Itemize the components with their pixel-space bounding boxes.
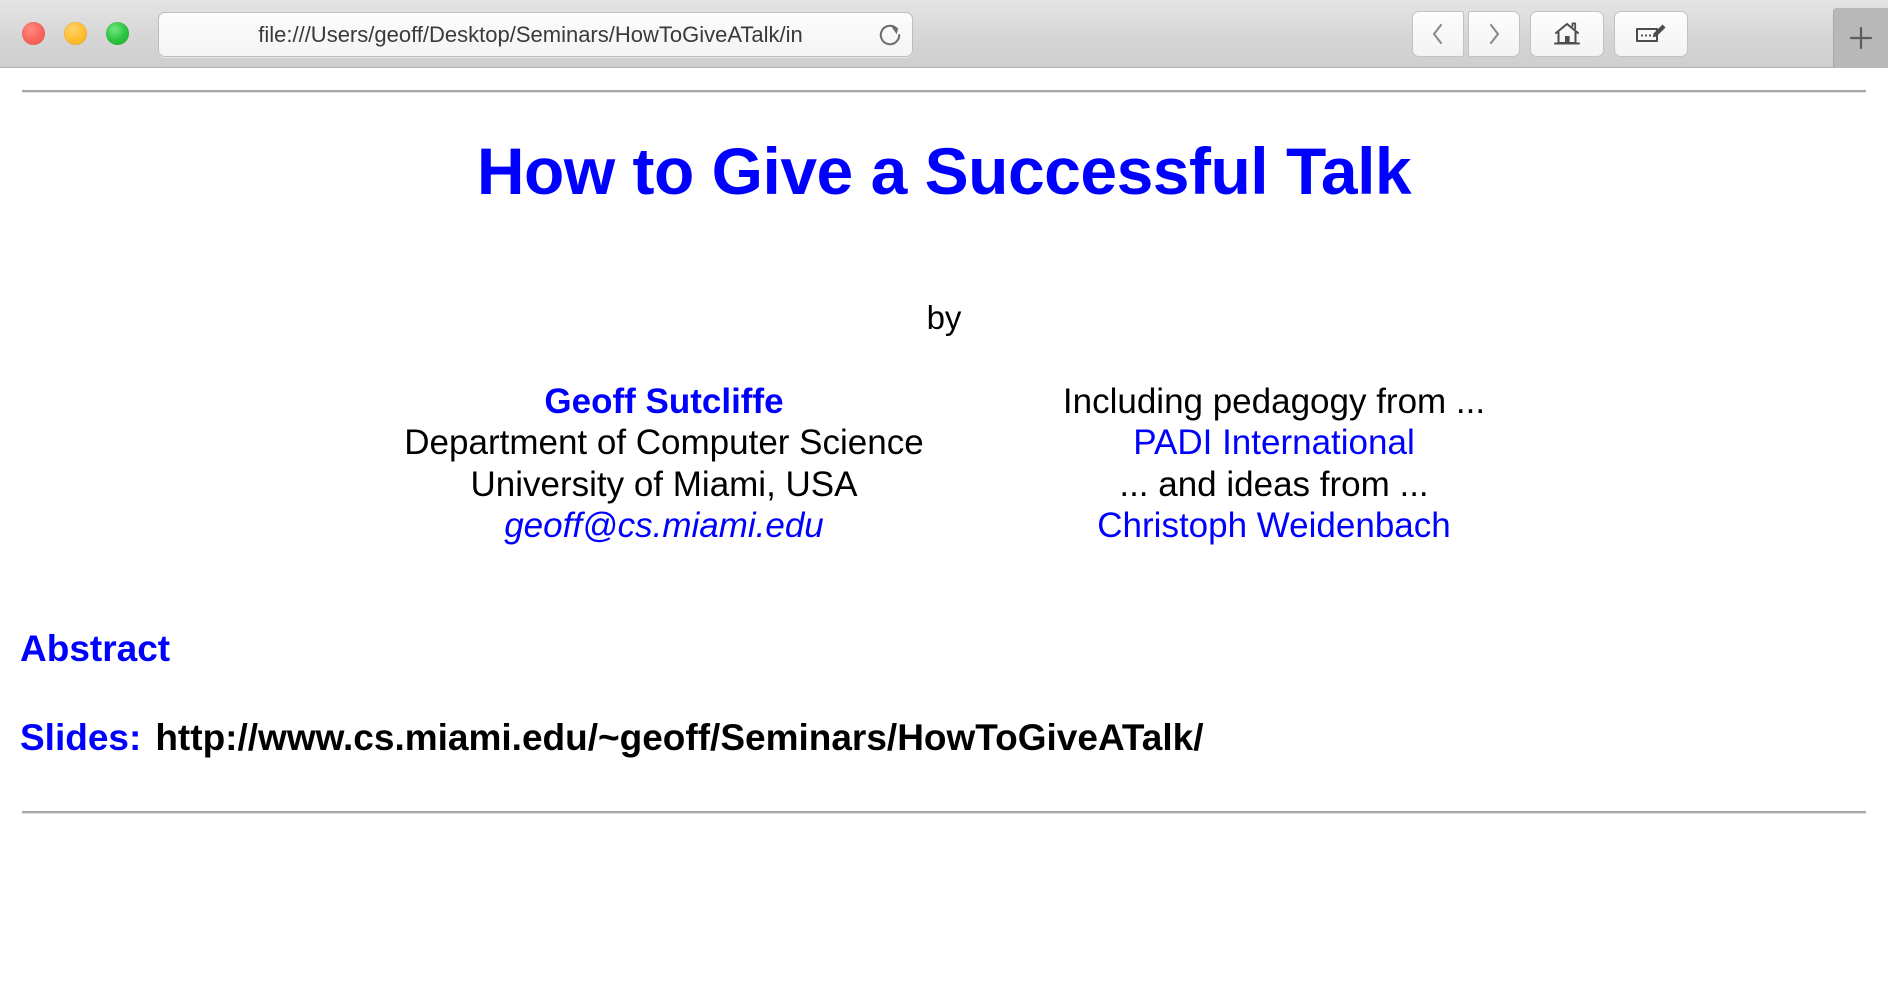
slides-label[interactable]: Slides:	[20, 717, 141, 759]
divider-bottom	[22, 811, 1866, 814]
author-university: University of Miami, USA	[354, 464, 974, 505]
author-name[interactable]: Geoff Sutcliffe	[354, 381, 974, 422]
author-credits-columns: Geoff Sutcliffe Department of Computer S…	[0, 381, 1888, 546]
credits-block: Including pedagogy from ... PADI Interna…	[974, 381, 1574, 546]
author-email[interactable]: geoff@cs.miami.edu	[354, 505, 974, 546]
credits-line-2: ... and ideas from ...	[974, 464, 1574, 505]
toolbar-buttons	[1412, 11, 1688, 57]
credits-link-padi[interactable]: PADI International	[974, 422, 1574, 463]
url-input[interactable]: file:///Users/geoff/Desktop/Seminars/How…	[159, 22, 868, 48]
page-title: How to Give a Successful Talk	[0, 93, 1888, 204]
close-window-button[interactable]	[22, 22, 45, 45]
by-label: by	[0, 204, 1888, 337]
home-button[interactable]	[1530, 11, 1604, 57]
credits-link-weidenbach[interactable]: Christoph Weidenbach	[974, 505, 1574, 546]
forward-button[interactable]	[1468, 11, 1520, 57]
navigation-pair	[1412, 11, 1520, 57]
page-content: How to Give a Successful Talk by Geoff S…	[0, 90, 1888, 1000]
new-tab-button[interactable]	[1833, 8, 1888, 68]
window-controls	[22, 22, 129, 45]
slides-row: Slides: http://www.cs.miami.edu/~geoff/S…	[20, 717, 1888, 759]
address-bar[interactable]: file:///Users/geoff/Desktop/Seminars/How…	[158, 12, 913, 57]
reload-icon[interactable]	[868, 12, 912, 57]
abstract-link[interactable]: Abstract	[20, 630, 1888, 667]
browser-toolbar: file:///Users/geoff/Desktop/Seminars/How…	[0, 0, 1888, 68]
credits-line-1: Including pedagogy from ...	[974, 381, 1574, 422]
author-department: Department of Computer Science	[354, 422, 974, 463]
abstract-section: Abstract Slides: http://www.cs.miami.edu…	[20, 630, 1888, 759]
compose-icon[interactable]	[1614, 11, 1688, 57]
slides-url[interactable]: http://www.cs.miami.edu/~geoff/Seminars/…	[155, 717, 1203, 759]
zoom-window-button[interactable]	[106, 22, 129, 45]
browser-window: file:///Users/geoff/Desktop/Seminars/How…	[0, 0, 1888, 978]
author-block: Geoff Sutcliffe Department of Computer S…	[354, 381, 974, 546]
minimize-window-button[interactable]	[64, 22, 87, 45]
back-button[interactable]	[1412, 11, 1464, 57]
